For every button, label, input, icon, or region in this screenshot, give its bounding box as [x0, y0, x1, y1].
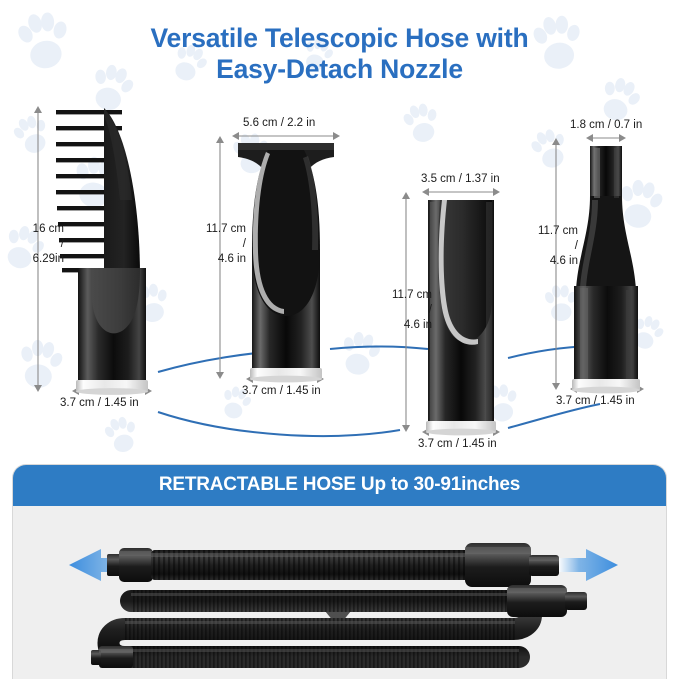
nozzle-comb-height-sep: /	[4, 237, 64, 252]
nozzle-cone-height-label: 11.7 cm / 4.6 in	[516, 224, 578, 269]
nozzle-flat-top-label: 3.5 cm / 1.37 in	[421, 172, 500, 186]
nozzle-comb-graphic	[56, 108, 148, 395]
nozzle-cone-height-cm: 11.7 cm	[516, 224, 578, 239]
infographic-canvas: Versatile Telescopic Hose with Easy-Deta…	[0, 0, 679, 679]
nozzle-cone-graphic	[572, 146, 640, 393]
nozzle-wide-base-label: 3.7 cm / 1.45 in	[242, 384, 321, 398]
retractable-hose-panel: RETRACTABLE HOSE Up to 30-91inches	[12, 464, 667, 679]
hose-illustration-area	[13, 507, 666, 679]
nozzle-cone-height-in: 4.6 in	[516, 254, 578, 269]
nozzle-wide-graphic	[238, 143, 334, 382]
nozzle-flat-graphic	[426, 200, 496, 435]
nozzle-comb-base-text: 3.7 cm / 1.45 in	[60, 397, 139, 409]
page-title-line-1: Versatile Telescopic Hose with	[0, 23, 679, 54]
nozzle-comb-height-label: 16 cm / 6.29in	[4, 222, 64, 267]
retracted-coiled-hose	[91, 585, 587, 668]
nozzle-wide-top-text: 5.6 cm / 2.2 in	[243, 117, 315, 129]
nozzle-comb-base-label: 3.7 cm / 1.45 in	[60, 396, 139, 410]
nozzle-flat-base-label: 3.7 cm / 1.45 in	[418, 437, 497, 451]
nozzle-cone-top-text: 1.8 cm / 0.7 in	[570, 119, 642, 131]
nozzle-cone-base-label: 3.7 cm / 1.45 in	[556, 394, 635, 408]
nozzle-flat-height-label: 11.7 cm / 4.6 in	[372, 288, 432, 333]
nozzle-cone-top-label: 1.8 cm / 0.7 in	[570, 118, 642, 132]
retractable-hose-banner: RETRACTABLE HOSE Up to 30-91inches	[12, 464, 667, 506]
arrow-right-icon	[558, 549, 618, 581]
nozzle-flat-top-text: 3.5 cm / 1.37 in	[421, 173, 500, 185]
nozzle-comb-height-cm: 16 cm	[4, 222, 64, 237]
nozzle-cone-base-text: 3.7 cm / 1.45 in	[556, 395, 635, 407]
nozzle-flat-height-cm: 11.7 cm	[372, 288, 432, 303]
nozzle-wide-top-label: 5.6 cm / 2.2 in	[243, 116, 315, 130]
nozzle-comb-height-in: 6.29in	[4, 252, 64, 267]
page-title-line-2: Easy-Detach Nozzle	[0, 54, 679, 85]
nozzle-cone-height-sep: /	[516, 239, 578, 254]
nozzle-flat-height-in: 4.6 in	[372, 318, 432, 333]
retractable-hose-banner-text: RETRACTABLE HOSE Up to 30-91inches	[159, 474, 520, 496]
nozzle-wide-height-sep: /	[186, 237, 246, 252]
nozzle-wide-height-label: 11.7 cm / 4.6 in	[186, 222, 246, 267]
extended-hose	[107, 543, 559, 587]
nozzle-flat-height-sep: /	[372, 303, 432, 318]
nozzle-flat-base-text: 3.7 cm / 1.45 in	[418, 438, 497, 450]
nozzle-wide-base-text: 3.7 cm / 1.45 in	[242, 385, 321, 397]
page-title: Versatile Telescopic Hose with Easy-Deta…	[0, 23, 679, 85]
nozzle-wide-height-in: 4.6 in	[186, 252, 246, 267]
nozzle-wide-height-cm: 11.7 cm	[186, 222, 246, 237]
hose-graphics	[13, 507, 666, 679]
